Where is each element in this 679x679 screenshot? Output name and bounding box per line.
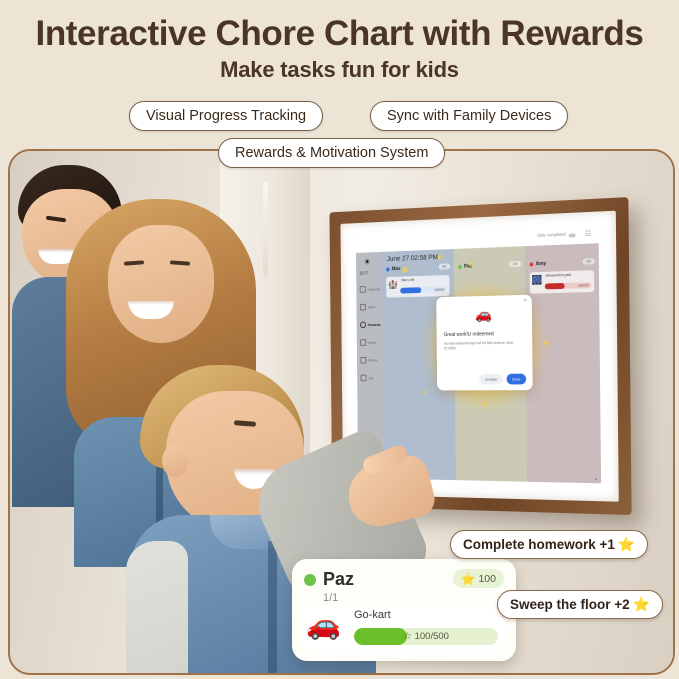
page-title: Interactive Chore Chart with Rewards	[0, 14, 679, 54]
jacket-placket	[268, 541, 277, 675]
progress-text-wrap: ☆ 100/500	[354, 628, 498, 645]
callout-complete-homework: Complete homework +1 ⭐	[450, 530, 648, 559]
sidebar-label: Rewards	[368, 323, 381, 327]
star-icon: ⭐	[633, 596, 650, 613]
product-listing-image: Interactive Chore Chart with Rewards Mak…	[0, 0, 679, 679]
unclaim-button[interactable]: Unclaim	[479, 374, 503, 385]
column-header: Max	[386, 266, 400, 272]
reward-progress-card: Paz ⭐ 100 1/1 🚗 Go-kart ☆ 100/500	[292, 559, 516, 661]
points-badge: ⭐ 100	[453, 569, 504, 588]
calendar-icon	[360, 286, 366, 293]
castle-icon: 🏰	[388, 280, 398, 289]
sidebar-item-notes[interactable]: Notes	[360, 339, 376, 346]
task-card[interactable]: 🎆 Amusement park 100/500	[530, 270, 595, 294]
task-title: Amusement park	[546, 272, 592, 277]
task-count-badge: 1/1	[509, 261, 521, 267]
shirt-sleeve	[126, 541, 188, 675]
reward-title: Go-kart	[354, 609, 391, 621]
progress-bar: 200/500	[400, 286, 447, 293]
callout-label: Complete homework +1	[463, 537, 615, 552]
reward-task-row[interactable]: 🚗 Go-kart ☆ 100/500	[302, 605, 506, 653]
go-kart-icon: 🚗	[443, 307, 524, 323]
progress-text: 100/500	[415, 631, 449, 642]
callout-sweep-floor: Sweep the floor +2 ⭐	[497, 590, 663, 619]
sidebar-label: Tasks	[368, 305, 376, 309]
task-title: Take a lift	[401, 277, 447, 282]
clock-icon	[360, 322, 366, 329]
child-name: Paz	[323, 569, 354, 590]
progress-bar: 100/500	[545, 282, 592, 289]
chore-chart-screen: Hide completed ☷ ☀ 86°F Calendar	[356, 227, 601, 483]
dialog-title: Great work!U redeemed	[444, 331, 525, 338]
hide-completed-label: Hide completed	[537, 232, 566, 238]
progress-bar: ☆ 100/500	[354, 628, 498, 645]
task-fraction: 1/1	[323, 592, 504, 604]
toggle-switch-icon[interactable]	[569, 233, 576, 237]
wall-trim	[263, 181, 268, 276]
wifi-icon[interactable]: ☷	[585, 230, 591, 238]
sidebar-item-photos[interactable]: Photos	[360, 357, 377, 364]
child-name: Amy	[536, 261, 547, 267]
feature-pill-sync-devices: Sync with Family Devices	[370, 101, 568, 131]
feature-pill-visual-progress: Visual Progress Tracking	[129, 101, 323, 131]
page-subtitle: Make tasks fun for kids	[0, 57, 679, 83]
task-count-badge: 0/2	[582, 258, 595, 264]
child-name: Max	[392, 266, 401, 272]
column-header: Amy	[530, 261, 547, 267]
temperature-label: 86°F	[360, 271, 369, 277]
progress-text: 200/500	[434, 287, 444, 293]
sidebar-item-rewards[interactable]: Rewards	[360, 321, 381, 328]
dialog-body: Go-kart redeemed By Kari for 500 point o…	[444, 341, 525, 352]
star-icon: ⭐	[618, 536, 635, 553]
status-dot	[386, 268, 389, 272]
progress-fill	[400, 287, 421, 293]
note-icon	[360, 339, 366, 346]
screen-main: June 27 02:58 PM Max 0/1 🏰 Take a lift	[382, 243, 601, 483]
status-dot	[304, 574, 316, 586]
sidebar-label: Photos	[368, 358, 378, 362]
progress-fill	[545, 283, 564, 289]
sun-icon: ☀	[364, 257, 371, 268]
feature-pill-rewards-system: Rewards & Motivation System	[218, 138, 445, 168]
star-icon: ⭐	[461, 572, 476, 586]
status-dot	[530, 262, 534, 266]
sidebar-label: Notes	[368, 340, 376, 344]
column-header: Paz	[458, 264, 472, 270]
progress-text: 100/500	[578, 282, 588, 288]
points-value: 100	[478, 573, 496, 585]
close-icon[interactable]: ✕	[523, 298, 527, 304]
dialog-actions: Unclaim Done	[479, 374, 526, 385]
go-kart-icon: 🚗	[306, 611, 341, 639]
task-card[interactable]: 🏰 Take a lift 200/500	[386, 275, 449, 298]
star-icon	[360, 304, 366, 311]
fireworks-icon: 🎆	[532, 276, 543, 285]
ear	[162, 445, 188, 477]
power-led-icon	[595, 478, 597, 480]
face	[108, 225, 214, 343]
sidebar-item-calendar[interactable]: Calendar	[360, 286, 380, 293]
callout-label: Sweep the floor +2	[510, 597, 630, 612]
child-name: Paz	[464, 264, 472, 270]
header: Interactive Chore Chart with Rewards Mak…	[0, 0, 679, 140]
done-button[interactable]: Done	[507, 374, 527, 385]
sidebar-item-tasks[interactable]: Tasks	[360, 304, 376, 311]
photo-icon	[360, 357, 366, 364]
sidebar-label: Calendar	[367, 287, 380, 291]
star-outline-icon: ☆	[403, 631, 412, 642]
task-count-badge: 0/1	[439, 263, 451, 269]
status-dot	[458, 265, 462, 269]
reward-redeemed-dialog: ✕ 🚗 Great work!U redeemed Go-kart redeem…	[436, 295, 532, 391]
